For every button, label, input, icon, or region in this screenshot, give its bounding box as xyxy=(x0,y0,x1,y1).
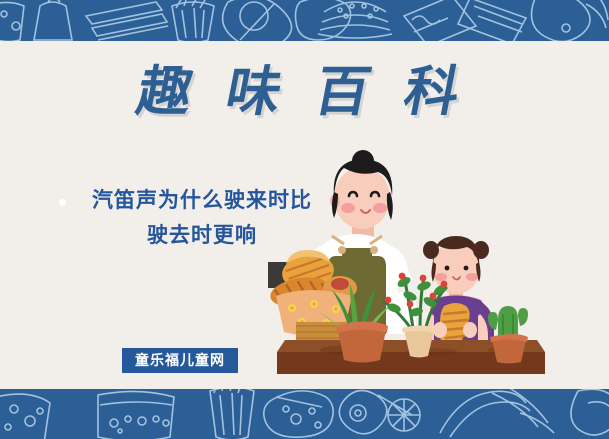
page-title: 趣 味 百 科 xyxy=(0,47,609,126)
girl-figure xyxy=(423,236,494,356)
poster-canvas: 趣 味 百 科 汽笛声为什么驶来时比 驶去时更响 童乐福儿童网 xyxy=(0,0,609,439)
aloe-plant xyxy=(318,284,390,363)
bread-basket xyxy=(268,250,357,336)
subtitle-text: 汽笛声为什么驶来时比 驶去时更响 xyxy=(62,183,342,253)
subtitle-line-2: 驶去时更响 xyxy=(62,218,342,253)
wooden-table xyxy=(277,322,545,374)
girl-bread xyxy=(440,303,470,356)
cactus-plant xyxy=(488,306,528,364)
watermark-badge: 童乐福儿童网 xyxy=(122,348,238,373)
top-decor-band xyxy=(0,0,609,41)
subtitle-line-1: 汽笛声为什么驶来时比 xyxy=(92,189,312,212)
bottom-decor-band xyxy=(0,389,609,439)
berry-plant xyxy=(384,273,448,358)
